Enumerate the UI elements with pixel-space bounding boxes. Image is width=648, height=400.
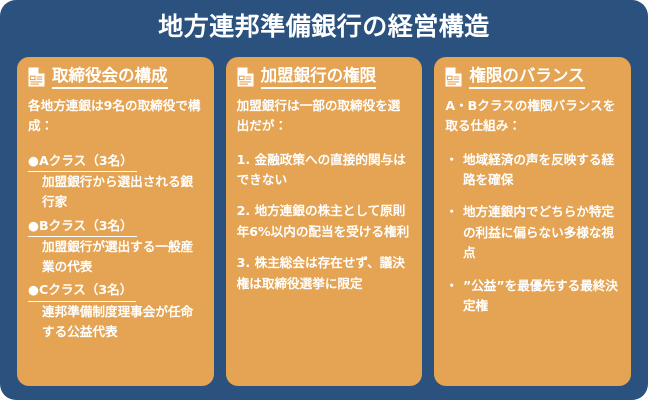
card-intro: 各地方連銀は9名の取締役で構成： <box>28 96 203 137</box>
numbered-item: 3. 株主総会は存在せず、議決権は取締役選挙に限定 <box>237 253 412 294</box>
class-description: 加盟銀行が選出する一般産業の代表 <box>28 237 203 278</box>
bullet-item: ・ ”公益”を最優先する最終決定権 <box>445 276 620 317</box>
class-label: ●Bクラス（3名） <box>28 216 137 237</box>
bullet-text: 地域経済の声を反映する経路を確保 <box>463 150 620 191</box>
cards-container: 取締役会の構成 各地方連銀は9名の取締役で構成： ●Aクラス（3名） 加盟銀行か… <box>17 57 631 386</box>
card-member-bank-rights: 加盟銀行の権限 加盟銀行は一部の取締役を選出だが： 1. 金融政策への直接的関与… <box>226 57 423 386</box>
card-title: 取締役会の構成 <box>52 66 168 89</box>
card-header: 取締役会の構成 <box>28 66 203 89</box>
document-icon <box>237 67 254 87</box>
class-block-a: ●Aクラス（3名） 加盟銀行から選出される銀行家 <box>28 150 203 213</box>
card-power-balance: 権限のバランス A・Bクラスの権限バランスを取る仕組み： ・ 地域経済の声を反映… <box>434 57 631 386</box>
class-description: 加盟銀行から選出される銀行家 <box>28 172 203 213</box>
bullet-text: ”公益”を最優先する最終決定権 <box>463 276 620 317</box>
bullet-item: ・ 地方連銀内でどちらか特定の利益に偏らない多様な視点 <box>445 202 620 263</box>
card-board-composition: 取締役会の構成 各地方連銀は9名の取締役で構成： ●Aクラス（3名） 加盟銀行か… <box>17 57 214 386</box>
card-header: 権限のバランス <box>445 66 620 89</box>
page-title: 地方連邦準備銀行の経営構造 <box>0 10 648 44</box>
class-description: 連邦準備制度理事会が任命する公益代表 <box>28 302 203 343</box>
card-intro: 加盟銀行は一部の取締役を選出だが： <box>237 96 412 137</box>
class-label: ●Cクラス（3名） <box>28 280 136 301</box>
card-title: 加盟銀行の権限 <box>261 66 377 89</box>
class-block-c: ●Cクラス（3名） 連邦準備制度理事会が任命する公益代表 <box>28 279 203 342</box>
infographic-panel: 地方連邦準備銀行の経営構造 取締役会の構成 各地方連銀は9名の取締役で構成： ●… <box>0 0 648 400</box>
document-icon <box>28 67 45 87</box>
numbered-item: 2. 地方連銀の株主として原則年6%以内の配当を受ける権利 <box>237 201 412 242</box>
class-block-b: ●Bクラス（3名） 加盟銀行が選出する一般産業の代表 <box>28 215 203 278</box>
bullet-item: ・ 地域経済の声を反映する経路を確保 <box>445 150 620 191</box>
bullet-marker: ・ <box>445 202 458 263</box>
numbered-item: 1. 金融政策への直接的関与はできない <box>237 150 412 191</box>
bullet-marker: ・ <box>445 276 458 317</box>
card-title: 権限のバランス <box>469 66 584 89</box>
card-header: 加盟銀行の権限 <box>237 66 412 89</box>
bullet-marker: ・ <box>445 150 458 191</box>
bullet-text: 地方連銀内でどちらか特定の利益に偏らない多様な視点 <box>463 202 620 263</box>
document-icon <box>445 67 462 87</box>
class-label: ●Aクラス（3名） <box>28 151 137 172</box>
card-intro: A・Bクラスの権限バランスを取る仕組み： <box>445 96 620 137</box>
